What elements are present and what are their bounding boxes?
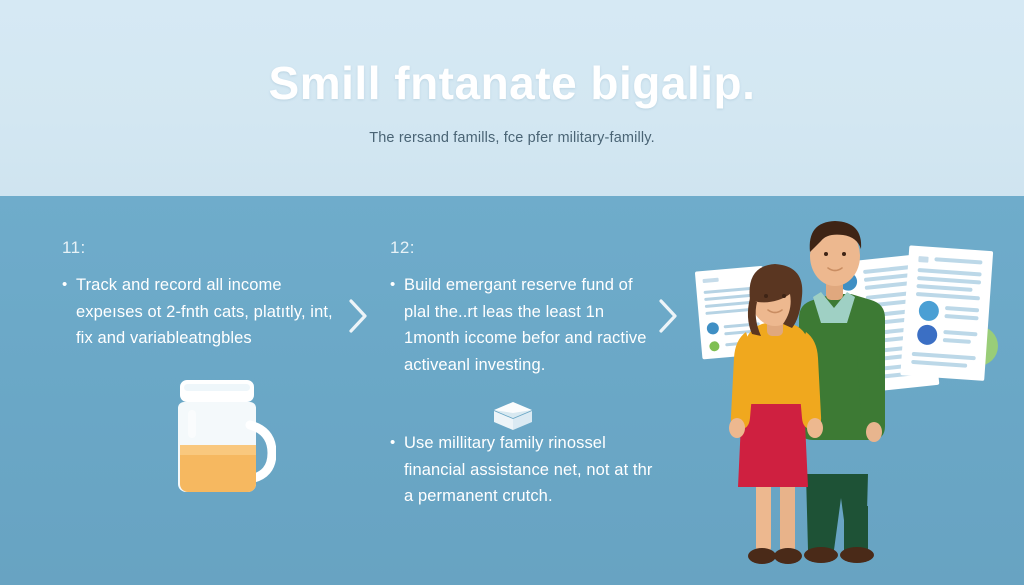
military-family-couple-illustration: $ $ $ $: [676, 206, 1024, 585]
infographic-canvas: Smill fntanate bigalip. The rersand fami…: [0, 0, 1024, 585]
step-number-1: 11:: [62, 238, 334, 258]
step-number-2: 12:: [390, 238, 662, 258]
savings-jar-icon: [158, 370, 276, 498]
bullet-dot-icon: •: [390, 273, 404, 297]
page-subtitle: The rersand famills, fce pfer military-f…: [0, 130, 1024, 146]
bullet-text: Use millitary family rinossel financial …: [404, 430, 662, 510]
chevron-right-icon: [345, 296, 371, 336]
step-column-2-secondary: • Use millitary family rinossel financia…: [390, 430, 662, 510]
step-column-1: 11: • Track and record all income expeıs…: [62, 238, 334, 352]
bullet-dot-icon: •: [390, 431, 404, 455]
bullet-dot-icon: •: [62, 273, 76, 297]
document-right: [900, 245, 993, 381]
bullet-text: Build emergant reserve fund of plal the.…: [404, 272, 662, 379]
open-box-icon: [492, 400, 534, 432]
list-item: • Use millitary family rinossel financia…: [390, 430, 662, 510]
step-column-2: 12: • Build emergant reserve fund of pla…: [390, 238, 662, 379]
page-title: Smill fntanate bigalip.: [0, 58, 1024, 109]
list-item: • Build emergant reserve fund of plal th…: [390, 272, 662, 379]
header-band: Smill fntanate bigalip. The rersand fami…: [0, 0, 1024, 196]
bullet-text: Track and record all income expeıses ot …: [76, 272, 334, 352]
list-item: • Track and record all income expeıses o…: [62, 272, 334, 352]
